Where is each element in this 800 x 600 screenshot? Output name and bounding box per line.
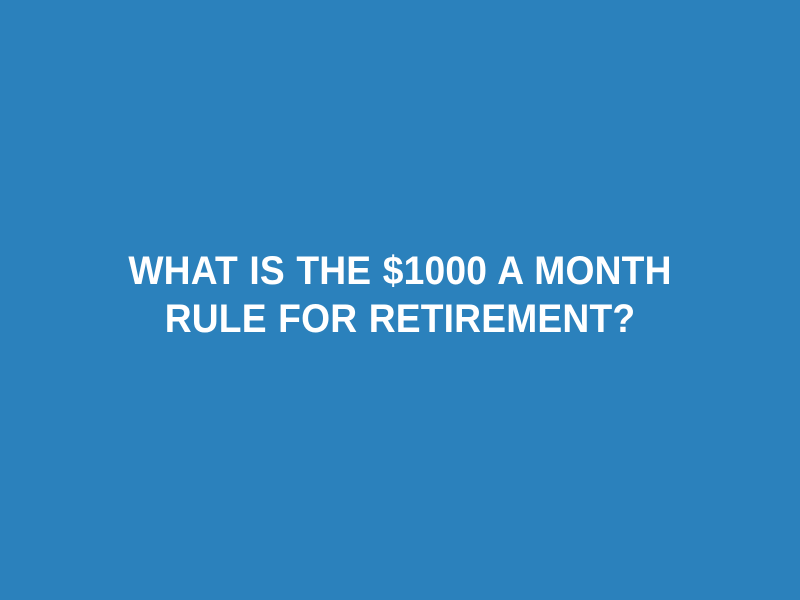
page-title: What is the $1000 a Month Rule for Retir…	[93, 247, 707, 343]
title-card: What is the $1000 a Month Rule for Retir…	[0, 0, 800, 600]
headline-block: What is the $1000 a Month Rule for Retir…	[70, 247, 730, 343]
